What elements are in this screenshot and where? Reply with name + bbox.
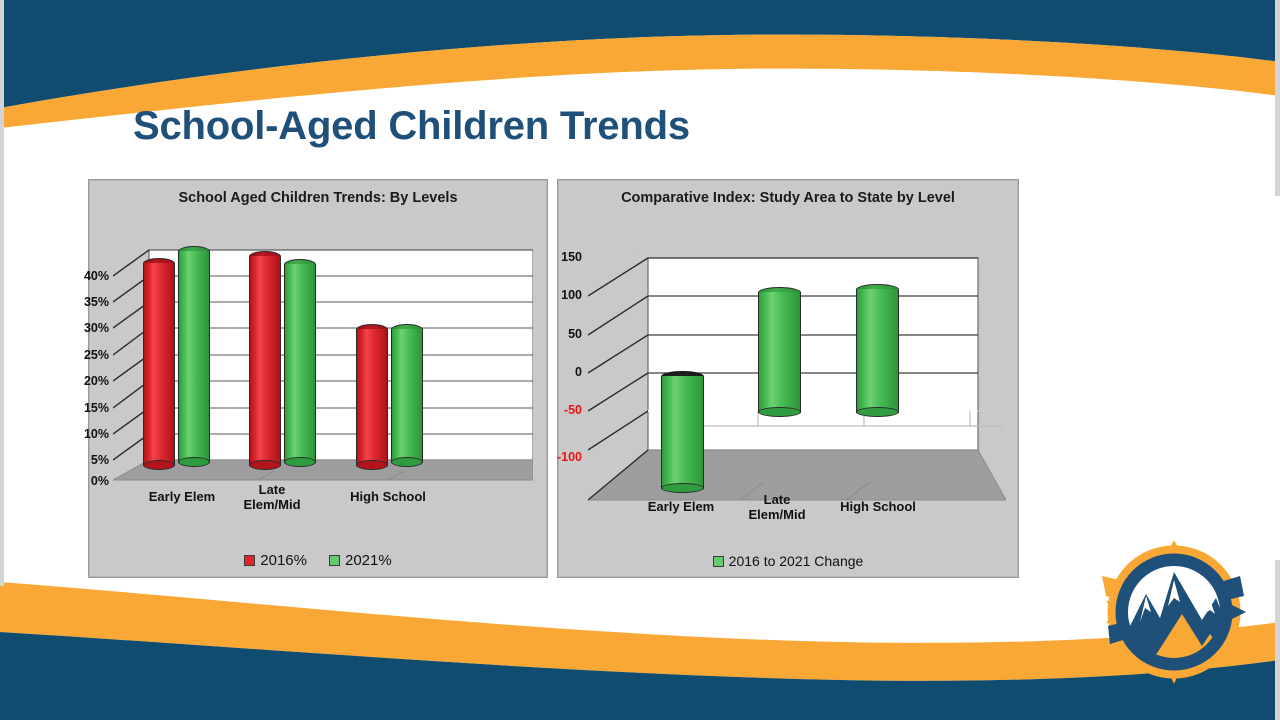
left-chart-plot: 40% 35% 30% 25% 20% 15% 10% 5% 0% Early … (113, 228, 533, 503)
bar-late-elem-2021 (284, 259, 316, 467)
legend-swatch-2021 (329, 555, 340, 566)
left-ytick-15: 15% (53, 401, 109, 415)
legend-label-change: 2016 to 2021 Change (729, 553, 864, 569)
bar-high-school-2016 (356, 324, 388, 470)
right-chart-legend: 2016 to 2021 Change (558, 553, 1018, 569)
mountain-compass-logo (1098, 536, 1250, 688)
bottom-orange-swoosh (0, 582, 1280, 681)
legend-label-2016: 2016% (260, 552, 307, 569)
slide-edge-left (0, 0, 4, 586)
left-ytick-40: 40% (53, 269, 109, 283)
right-xtick-early-elem: Early Elem (626, 499, 736, 514)
right-ytick-50: 50 (536, 327, 582, 341)
right-xtick-late-elem-mid: LateElem/Mid (728, 492, 826, 522)
bottom-navy-band (0, 632, 1280, 720)
right-ytick-neg50: -50 (536, 403, 582, 417)
left-ytick-0: 0% (53, 474, 109, 488)
left-ytick-5: 5% (53, 453, 109, 467)
right-ytick-0: 0 (536, 365, 582, 379)
legend-item-change[interactable]: 2016 to 2021 Change (713, 553, 864, 569)
left-ytick-10: 10% (53, 427, 109, 441)
right-chart-panel[interactable]: Comparative Index: Study Area to State b… (557, 179, 1019, 578)
left-chart-title: School Aged Children Trends: By Levels (89, 190, 547, 206)
bar-early-elem-2021 (178, 246, 210, 467)
bar-high-school-2021 (391, 324, 423, 467)
left-ytick-20: 20% (53, 374, 109, 388)
legend-label-2021: 2021% (345, 552, 392, 569)
legend-item-2016[interactable]: 2016% (244, 552, 307, 569)
slide-canvas: School-Aged Children Trends School Aged … (0, 0, 1280, 720)
left-chart-panel[interactable]: School Aged Children Trends: By Levels (88, 179, 548, 578)
bar-early-elem-2016 (143, 258, 175, 470)
bar-index-late-elem (758, 287, 801, 417)
right-ytick-100: 100 (536, 288, 582, 302)
top-navy-band (0, 0, 1280, 108)
page-title: School-Aged Children Trends (133, 104, 690, 149)
bar-index-high-school (856, 284, 899, 417)
left-ytick-35: 35% (53, 295, 109, 309)
right-ytick-neg100: -100 (536, 450, 582, 464)
slide-edge-right-lower (1275, 560, 1280, 720)
bar-late-elem-2016 (249, 251, 281, 470)
left-xtick-high-school: High School (333, 489, 443, 504)
right-chart-plot: 150 100 50 0 -50 -100 Early Elem LateEle… (588, 228, 1006, 513)
legend-item-2021[interactable]: 2021% (329, 552, 392, 569)
left-xtick-early-elem: Early Elem (127, 489, 237, 504)
left-xtick-late-elem-mid: LateElem/Mid (223, 482, 321, 512)
right-ytick-150: 150 (536, 250, 582, 264)
slide-edge-right (1275, 0, 1280, 196)
right-chart-title: Comparative Index: Study Area to State b… (558, 190, 1018, 206)
left-ytick-30: 30% (53, 321, 109, 335)
left-chart-canvas (113, 228, 533, 503)
left-chart-legend: 2016% 2021% (89, 552, 547, 569)
legend-swatch-2016 (244, 555, 255, 566)
bar-index-early-elem (661, 371, 704, 493)
right-xtick-high-school: High School (823, 499, 933, 514)
left-ytick-25: 25% (53, 348, 109, 362)
legend-swatch-change (713, 556, 724, 567)
